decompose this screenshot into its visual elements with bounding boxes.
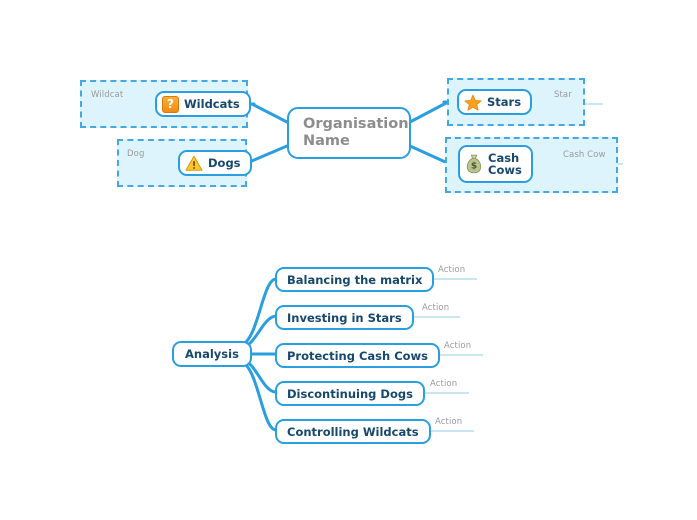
relation-label-action-4: Action xyxy=(430,379,457,389)
node-protecting-cash-cows[interactable]: Protecting Cash Cows xyxy=(275,343,440,368)
node-organisation-name[interactable]: Organisation Name xyxy=(287,107,411,159)
edge-central-stars xyxy=(410,102,448,122)
node-cash-cows-label: Cash Cows xyxy=(488,152,522,177)
node-dogs[interactable]: Dogs xyxy=(178,150,252,176)
node-wildcats[interactable]: ? Wildcats xyxy=(155,91,251,117)
relation-label-action-2: Action xyxy=(422,303,449,313)
relation-label-action-3: Action xyxy=(444,341,471,351)
node-stars-label: Stars xyxy=(487,95,521,109)
question-mark-icon: ? xyxy=(162,96,179,113)
money-bag-icon: $ xyxy=(465,154,483,174)
edge-central-dogs xyxy=(247,146,287,163)
relation-label-dog: Dog xyxy=(127,149,144,159)
node-discontinuing-dogs[interactable]: Discontinuing Dogs xyxy=(275,381,425,406)
node-analysis-label: Analysis xyxy=(185,347,239,361)
relation-label-action-5: Action xyxy=(435,417,462,427)
node-organisation-name-label: Organisation Name xyxy=(303,116,409,150)
node-controlling-wildcats[interactable]: Controlling Wildcats xyxy=(275,419,431,444)
relation-label-action-1: Action xyxy=(438,265,465,275)
edge-analysis-balancing xyxy=(240,279,276,345)
node-balancing-the-matrix[interactable]: Balancing the matrix xyxy=(275,267,434,292)
edge-central-wildcats xyxy=(252,104,287,122)
node-controlling-wildcats-label: Controlling Wildcats xyxy=(287,425,419,439)
node-wildcats-label: Wildcats xyxy=(184,97,240,111)
node-cash-cows[interactable]: $ Cash Cows xyxy=(458,145,533,183)
node-investing-in-stars[interactable]: Investing in Stars xyxy=(275,305,414,330)
relation-label-cash-cow: Cash Cow xyxy=(563,150,606,160)
star-icon xyxy=(464,94,482,111)
relation-label-star: Star xyxy=(554,90,572,100)
node-dogs-label: Dogs xyxy=(208,156,241,170)
node-investing-in-stars-label: Investing in Stars xyxy=(287,311,402,325)
node-stars[interactable]: Stars xyxy=(457,89,532,115)
svg-text:$: $ xyxy=(471,162,477,172)
node-analysis[interactable]: Analysis xyxy=(172,341,252,367)
node-balancing-the-matrix-label: Balancing the matrix xyxy=(287,273,422,287)
mindmap-canvas: Wildcat Dog Star Cash Cow ? Wildcats Dog… xyxy=(0,0,697,520)
relation-label-wildcat: Wildcat xyxy=(91,90,123,100)
node-discontinuing-dogs-label: Discontinuing Dogs xyxy=(287,387,413,401)
node-protecting-cash-cows-label: Protecting Cash Cows xyxy=(287,349,428,363)
warning-triangle-icon xyxy=(185,155,203,172)
edge-analysis-controlling xyxy=(240,362,276,430)
